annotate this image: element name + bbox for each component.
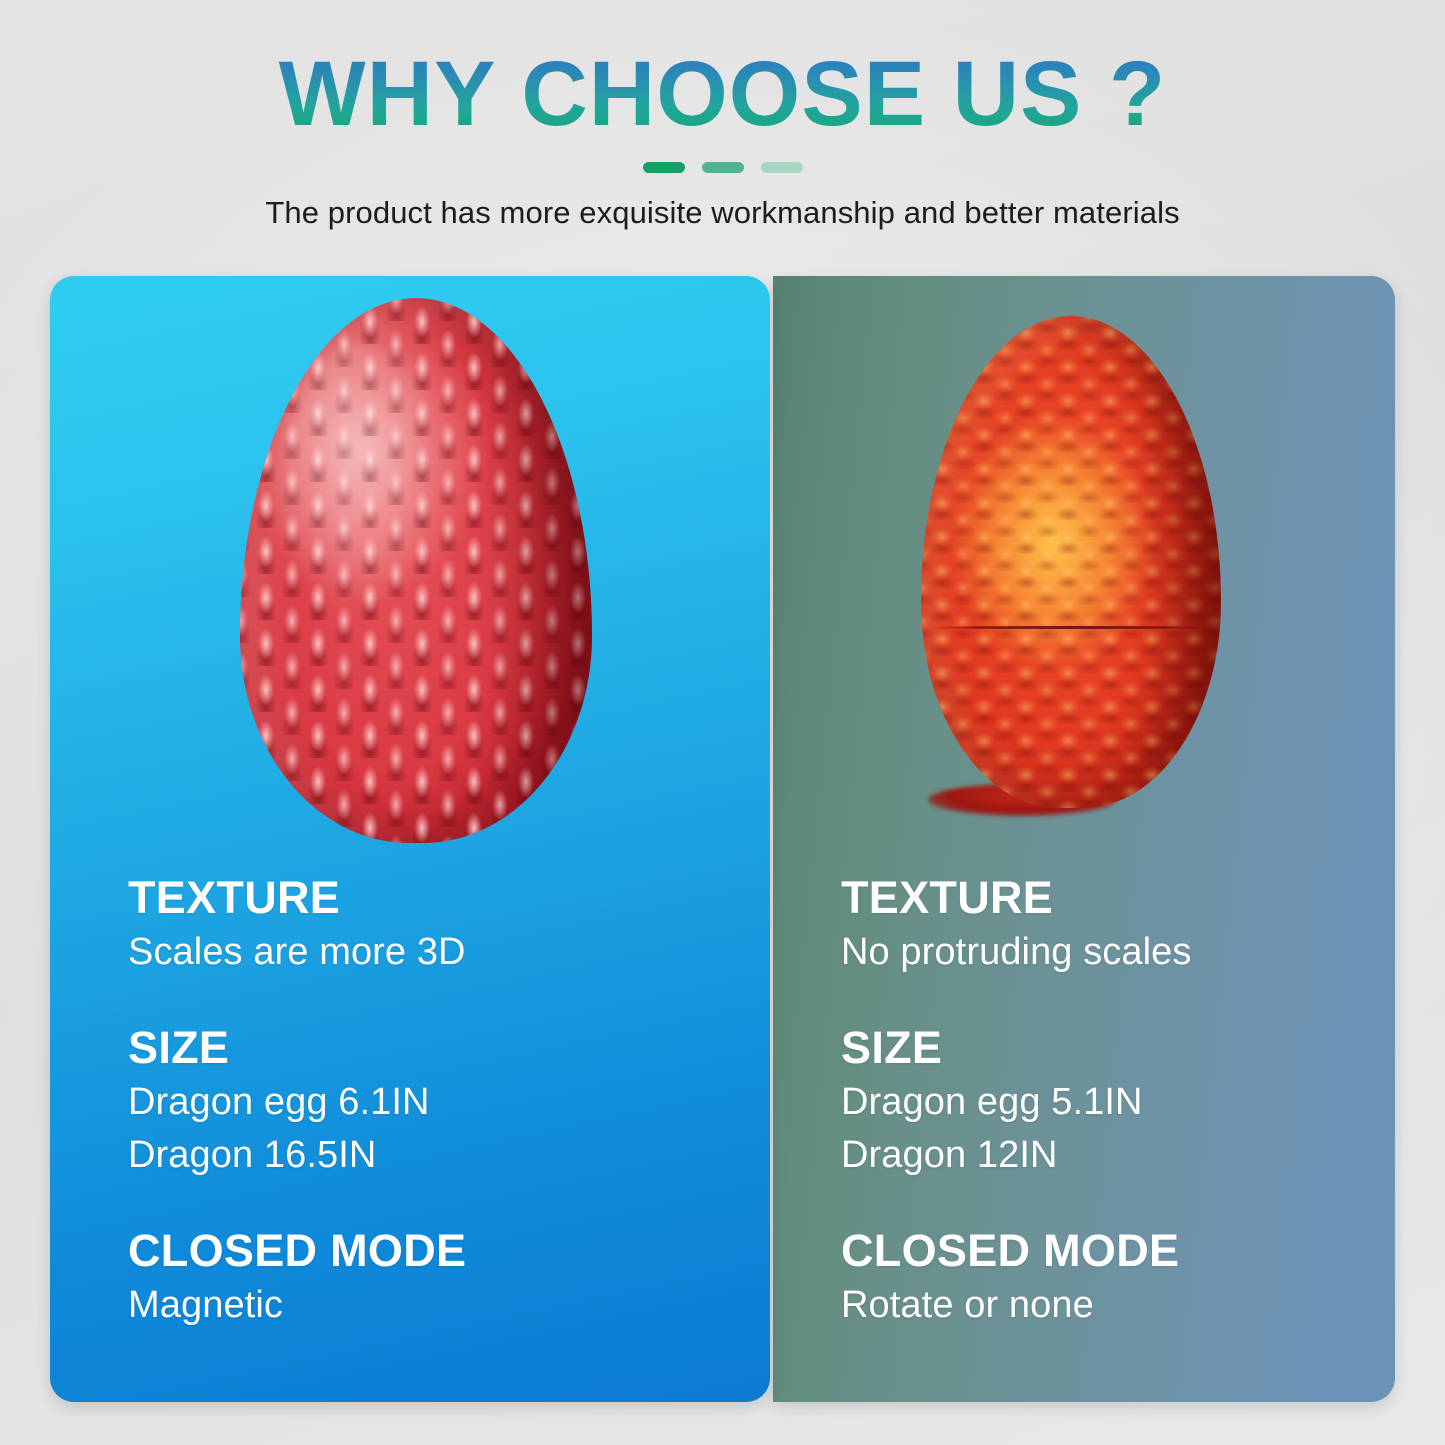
- spec-size: SIZE Dragon egg 5.1IN Dragon 12IN: [841, 1022, 1395, 1181]
- page-title: WHY CHOOSE US ?: [0, 0, 1445, 144]
- dragon-egg-icon: [240, 298, 592, 843]
- header-block: WHY CHOOSE US ? The product has more exq…: [0, 0, 1445, 231]
- page-subtitle: The product has more exquisite workmansh…: [0, 173, 1445, 231]
- divider-dashes: [643, 162, 803, 173]
- product-image-ours: [50, 276, 770, 876]
- marketing-comparison-page: WHY CHOOSE US ? The product has more exq…: [0, 0, 1445, 1445]
- dash-1-icon: [643, 162, 685, 173]
- spec-title-closed-mode: CLOSED MODE: [128, 1225, 688, 1277]
- spec-title-size: SIZE: [128, 1022, 688, 1074]
- product-image-others: [773, 276, 1395, 876]
- dash-2-icon: [702, 162, 744, 173]
- spec-value-size-2: Dragon 12IN: [841, 1131, 1395, 1180]
- spec-list-ours: TEXTURE Scales are more 3D SIZE Dragon e…: [128, 872, 688, 1330]
- spec-title-size: SIZE: [841, 1022, 1395, 1074]
- spec-value-size-2: Dragon 16.5IN: [128, 1131, 688, 1180]
- dragon-egg-icon: [921, 316, 1221, 808]
- spec-value-texture-1: Scales are more 3D: [128, 928, 688, 977]
- spec-title-texture: TEXTURE: [841, 872, 1395, 924]
- egg-highlight: [282, 342, 444, 625]
- egg-shading: [486, 353, 592, 800]
- spec-closed-mode: CLOSED MODE Magnetic: [128, 1225, 688, 1331]
- spec-title-texture: TEXTURE: [128, 872, 688, 924]
- spec-list-others: TEXTURE No protruding scales SIZE Dragon…: [841, 872, 1395, 1330]
- spec-value-size-1: Dragon egg 6.1IN: [128, 1078, 688, 1127]
- egg-shading: [1137, 355, 1221, 778]
- spec-value-size-1: Dragon egg 5.1IN: [841, 1078, 1395, 1127]
- spec-closed-mode: CLOSED MODE Rotate or none: [841, 1225, 1395, 1331]
- spec-value-closed-mode-1: Magnetic: [128, 1281, 688, 1330]
- spec-size: SIZE Dragon egg 6.1IN Dragon 16.5IN: [128, 1022, 688, 1181]
- dash-3-icon: [761, 162, 803, 173]
- spec-title-closed-mode: CLOSED MODE: [841, 1225, 1395, 1277]
- spec-texture: TEXTURE Scales are more 3D: [128, 872, 688, 978]
- spec-texture: TEXTURE No protruding scales: [841, 872, 1395, 978]
- comparison-card-others: TEXTURE No protruding scales SIZE Dragon…: [773, 276, 1395, 1402]
- spec-value-texture-1: No protruding scales: [841, 928, 1395, 977]
- comparison-card-ours: TEXTURE Scales are more 3D SIZE Dragon e…: [50, 276, 770, 1402]
- spec-value-closed-mode-1: Rotate or none: [841, 1281, 1395, 1330]
